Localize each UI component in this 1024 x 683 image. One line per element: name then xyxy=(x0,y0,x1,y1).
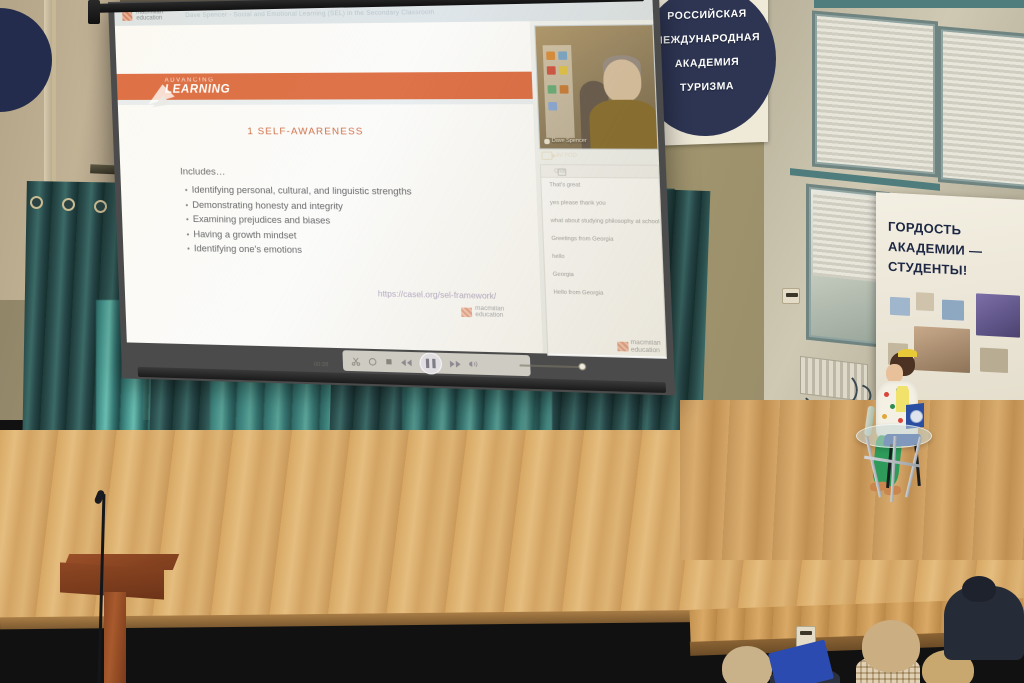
macmillan-mark-icon xyxy=(122,11,132,20)
wall-socket xyxy=(782,288,800,304)
jacket-motif xyxy=(882,414,887,419)
video-tile[interactable]: Dave Spencer xyxy=(534,24,658,150)
volume-slider-knob[interactable] xyxy=(578,363,586,371)
projection-screen: macmillan education Dave Spencer - Socia… xyxy=(108,0,675,395)
participant-face xyxy=(603,59,642,102)
av-pod-badge[interactable]: AV POD xyxy=(541,151,577,160)
shelf-item xyxy=(548,102,557,110)
chat-panel[interactable]: Chat That's great yes please thank you w… xyxy=(540,164,667,359)
brand-band-shadow xyxy=(118,99,533,105)
flag-emblem xyxy=(910,410,923,423)
rewind-icon[interactable] xyxy=(400,357,412,367)
slide-source-url[interactable]: https://casel.org/sel-framework/ xyxy=(378,289,497,301)
screen-surface: macmillan education Dave Spencer - Socia… xyxy=(114,0,667,357)
shelf-item xyxy=(560,85,569,93)
students-banner-line3: СТУДЕНТЫ! xyxy=(888,259,967,279)
chat-message-list: That's great yes please thank you what a… xyxy=(549,182,657,310)
window-upper-right xyxy=(938,26,1024,190)
banner-tile-1 xyxy=(890,297,910,316)
microphone-icon xyxy=(544,138,550,143)
presenter-headband xyxy=(898,349,917,357)
chat-message: Greetings from Georgia xyxy=(551,236,654,244)
students-banner-line2: АКАДЕМИИ — xyxy=(888,239,982,260)
player-timestamp: 00:28 xyxy=(314,362,329,369)
record-icon[interactable] xyxy=(368,357,378,367)
curtain-grommet xyxy=(30,196,43,209)
curtain-grommet xyxy=(62,198,75,211)
window-upper xyxy=(812,10,938,177)
stage-floor-right xyxy=(680,400,1024,560)
macmillan-mark-icon xyxy=(617,342,629,352)
fast-forward-icon[interactable] xyxy=(449,359,461,369)
chat-message: hello xyxy=(552,254,655,262)
chat-bubble-icon xyxy=(557,168,566,175)
slide: ADVANCING LEARNING 1 SELF-AWARENESS Incl… xyxy=(115,21,543,353)
ceiling-trim xyxy=(814,0,1024,8)
students-banner-line1: ГОРДОСТЬ xyxy=(888,219,961,239)
chat-message: Georgia xyxy=(553,272,656,280)
slide-bullet: Examining prejudices and biases xyxy=(186,214,413,227)
auditorium-photo: РОССИЙСКАЯ МЕЖДУНАРОДНАЯ АКАДЕМИЯ ТУРИЗМ… xyxy=(0,0,1024,683)
banner-tile-5 xyxy=(980,348,1008,373)
video-camera-icon xyxy=(541,151,552,159)
pause-icon[interactable] xyxy=(419,352,442,374)
advancing-learning-logo: ADVANCING LEARNING xyxy=(165,77,231,95)
volume-icon[interactable] xyxy=(469,360,480,369)
audience-member-1 xyxy=(722,646,772,683)
shelf-item xyxy=(547,66,556,74)
shelf-item xyxy=(558,51,567,59)
jacket-motif xyxy=(890,404,895,409)
chat-message: That's great xyxy=(549,182,652,189)
banner-tile-3 xyxy=(942,300,964,321)
slide-bullet: Identifying one's emotions xyxy=(187,243,414,257)
chat-message: what about studying philosophy at school xyxy=(551,218,654,226)
jacket-motif xyxy=(898,418,903,423)
slide-bullet: Identifying personal, cultural, and ling… xyxy=(185,185,412,197)
slide-intro: Includes… xyxy=(180,166,226,177)
podium-stem xyxy=(104,592,126,683)
learning-label: LEARNING xyxy=(165,83,231,95)
paper-plane-icon-shadow xyxy=(151,95,170,108)
chat-message: yes please thank you xyxy=(550,200,653,207)
chat-footer-logo: macmillan education xyxy=(617,340,661,355)
cut-icon[interactable] xyxy=(351,356,361,366)
banner-photo-graduates xyxy=(976,293,1020,337)
curtain-grommet xyxy=(94,200,107,213)
jacket-motif xyxy=(884,392,889,397)
chat-header: Chat xyxy=(541,165,659,178)
slide-bullet: Having a growth mindset xyxy=(186,229,413,242)
participant-torso xyxy=(589,100,659,149)
slide-bullet-list: Identifying personal, cultural, and ling… xyxy=(185,185,415,262)
advancing-label: ADVANCING xyxy=(165,77,231,83)
shelf-item xyxy=(559,66,568,74)
chat-message: Hello from Georgia xyxy=(553,289,656,297)
slide-heading: 1 SELF-AWARENESS xyxy=(247,126,364,137)
participant-name-badge: Dave Spencer xyxy=(544,138,587,144)
academy-banner: РОССИЙСКАЯ МЕЖДУНАРОДНАЯ АКАДЕМИЯ ТУРИЗМ… xyxy=(646,0,768,146)
banner-photo-desk xyxy=(914,326,970,373)
audience-member-5-head xyxy=(962,576,996,602)
macmillan-wordmark: macmillan education xyxy=(475,306,505,320)
shelf-item xyxy=(546,51,555,59)
shelf-item xyxy=(547,85,556,93)
macmillan-wordmark: macmillan education xyxy=(630,340,661,354)
slide-footer-logo: macmillan education xyxy=(461,305,505,319)
stop-icon[interactable] xyxy=(385,358,394,367)
slide-bullet: Demonstrating honesty and integrity xyxy=(185,199,412,211)
screen-mount-bracket xyxy=(88,0,100,24)
macmillan-mark-icon xyxy=(461,307,472,317)
banner-tile-2 xyxy=(916,292,934,311)
audience-member-3 xyxy=(862,620,920,672)
